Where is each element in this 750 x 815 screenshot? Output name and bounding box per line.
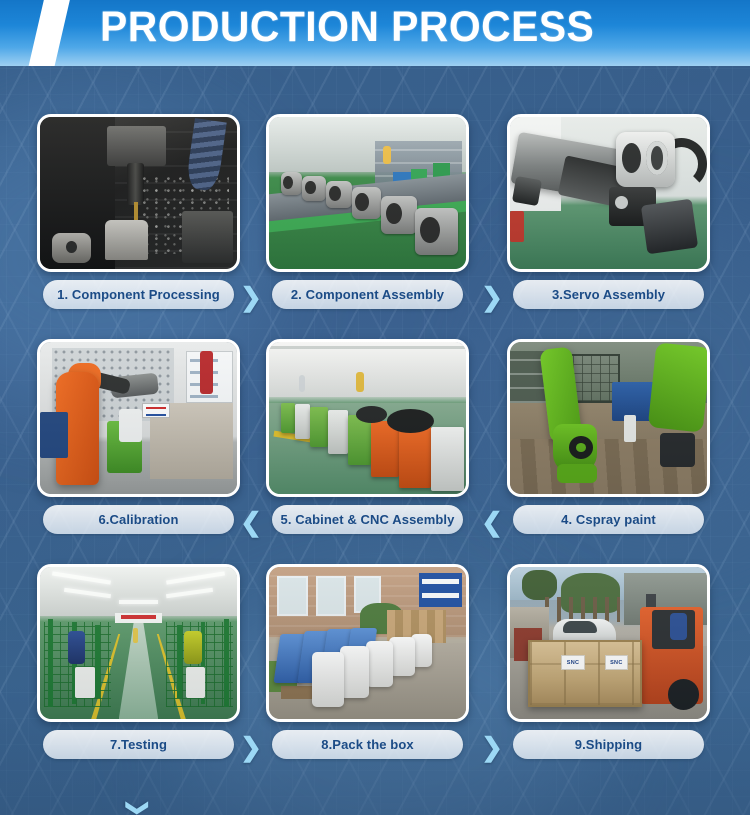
process-grid: 1. Component Processing ❯ [0, 66, 750, 815]
step-7-label-pill: 7.Testing [43, 730, 234, 759]
arrow-step2-to-step3: ❯ [477, 284, 507, 310]
step-2-label-pill: 2. Component Assembly [272, 280, 463, 309]
component-assembly-line-photo [269, 117, 466, 269]
arrow-step1-to-step2: ❯ [236, 284, 266, 310]
step-6-label: 6.Calibration [98, 512, 178, 527]
process-step-6[interactable]: 6.Calibration [37, 339, 240, 564]
spray-paint-photo [510, 342, 707, 494]
step-3-photo-card [507, 114, 710, 272]
step-9-photo-card: SNC SNC [507, 564, 710, 722]
process-step-1[interactable]: 1. Component Processing [37, 114, 240, 339]
step-7-label: 7.Testing [110, 737, 167, 752]
step-2-label: 2. Component Assembly [291, 287, 444, 302]
process-row-2: 6.Calibration ❮ [0, 339, 750, 564]
process-step-8[interactable]: 8.Pack the box [266, 564, 469, 789]
process-step-9[interactable]: SNC SNC 9.Shipping [507, 564, 710, 789]
arrow-step8-to-step9: ❯ [477, 734, 507, 760]
step-1-label: 1. Component Processing [57, 287, 220, 302]
arrow-step5-to-step6: ❮ [236, 509, 266, 535]
process-row-3: 7.Testing ❯ [0, 564, 750, 789]
robot-calibration-photo [40, 342, 237, 494]
step-8-label-pill: 8.Pack the box [272, 730, 463, 759]
servo-assembly-photo [510, 117, 707, 269]
page-title: PRODUCTION PROCESS [100, 3, 594, 52]
step-6-label-pill: 6.Calibration [43, 505, 234, 534]
step-1-photo-card [37, 114, 240, 272]
step-3-label: 3.Servo Assembly [552, 287, 665, 302]
step-9-label: 9.Shipping [575, 737, 642, 752]
process-step-7[interactable]: 7.Testing [37, 564, 240, 789]
step-5-label: 5. Cabinet & CNC Assembly [281, 512, 455, 527]
step-1-label-pill: 1. Component Processing [43, 280, 234, 309]
arrow-step7-to-step8: ❯ [236, 734, 266, 760]
step-6-photo-card [37, 339, 240, 497]
arrow-step6-to-step7: ❯ [127, 793, 149, 815]
arrow-step4-to-step5: ❮ [477, 509, 507, 535]
process-row-1: 1. Component Processing ❯ [0, 114, 750, 339]
step-8-label: 8.Pack the box [321, 737, 413, 752]
step-8-photo-card [266, 564, 469, 722]
shipping-forklift-photo: SNC SNC [510, 567, 707, 719]
step-2-photo-card [266, 114, 469, 272]
process-step-4[interactable]: 4. Cspray paint [507, 339, 710, 564]
step-4-label-pill: 4. Cspray paint [513, 505, 704, 534]
process-step-5[interactable]: 5. Cabinet & CNC Assembly [266, 339, 469, 564]
step-4-label: 4. Cspray paint [561, 512, 656, 527]
step-7-photo-card [37, 564, 240, 722]
process-step-3[interactable]: 3.Servo Assembly [507, 114, 710, 339]
step-9-label-pill: 9.Shipping [513, 730, 704, 759]
step-5-photo-card [266, 339, 469, 497]
testing-hall-photo [40, 567, 237, 719]
page-header: PRODUCTION PROCESS [0, 0, 750, 66]
cnc-machining-photo [40, 117, 237, 269]
step-3-label-pill: 3.Servo Assembly [513, 280, 704, 309]
process-step-2[interactable]: 2. Component Assembly [266, 114, 469, 339]
step-4-photo-card [507, 339, 710, 497]
header-slash-accent [26, 0, 71, 66]
step-5-label-pill: 5. Cabinet & CNC Assembly [272, 505, 463, 534]
cabinet-cnc-assembly-photo [269, 342, 466, 494]
production-process-page: PRODUCTION PROCESS [0, 0, 750, 815]
packing-photo [269, 567, 466, 719]
